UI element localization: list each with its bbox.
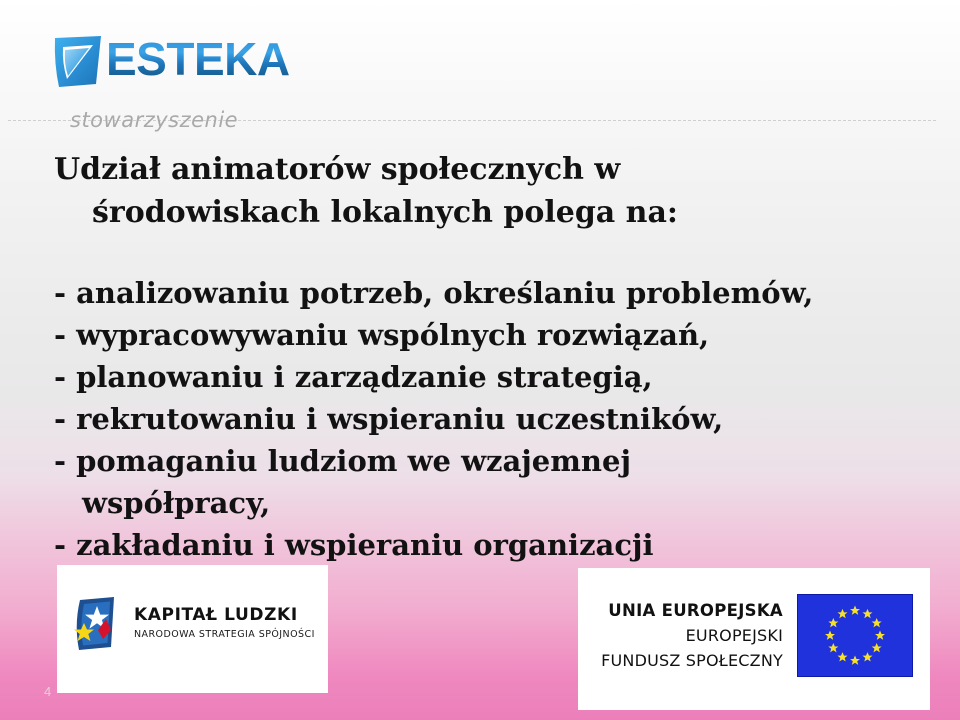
esteka-kite-icon — [52, 34, 104, 90]
page-title: Udział animatorów społecznych w środowis… — [54, 148, 914, 234]
eu-line-2: EUROPEJSKI — [595, 626, 783, 645]
slide-canvas: ESTEKA stowarzyszenie Udział animatorów … — [0, 0, 960, 720]
eu-line-1: UNIA EUROPEJSKA — [595, 601, 783, 620]
kapital-ludzki-panel: KAPITAŁ LUDZKI NARODOWA STRATEGIA SPÓJNO… — [57, 565, 328, 693]
list-item: - pomaganiu ludziom we wzajemnej — [54, 440, 934, 482]
list-item: - rekrutowaniu i wspieraniu uczestników, — [54, 398, 934, 440]
kapital-ludzki-subtitle: NARODOWA STRATEGIA SPÓJNOŚCI — [134, 630, 315, 640]
kapital-ludzki-flag-stars-icon — [70, 595, 122, 651]
title-line-2: środowiskach lokalnych polega na: — [54, 191, 914, 234]
slide-number: 4 — [44, 684, 51, 699]
brand-name: ESTEKA — [106, 36, 290, 82]
unia-europejska-logo: UNIA EUROPEJSKA EUROPEJSKI FUNDUSZ SPOŁE… — [595, 594, 913, 677]
eu-line-3: FUNDUSZ SPOŁECZNY — [595, 651, 783, 670]
unia-europejska-text: UNIA EUROPEJSKA EUROPEJSKI FUNDUSZ SPOŁE… — [595, 601, 797, 670]
brand-logo: ESTEKA — [52, 26, 290, 98]
eu-flag-twelve-stars-icon — [797, 594, 913, 677]
list-item: - wypracowywaniu wspólnych rozwiązań, — [54, 314, 934, 356]
list-item: - planowaniu i zarządzanie strategią, — [54, 356, 934, 398]
list-item: - zakładaniu i wspieraniu organizacji — [54, 524, 934, 566]
list-item: - analizowaniu potrzeb, określaniu probl… — [54, 272, 934, 314]
bullet-list: - analizowaniu potrzeb, określaniu probl… — [54, 272, 934, 566]
kapital-ludzki-title: KAPITAŁ LUDZKI — [134, 607, 315, 624]
kapital-ludzki-text: KAPITAŁ LUDZKI NARODOWA STRATEGIA SPÓJNO… — [134, 607, 315, 640]
list-item: współpracy, — [54, 482, 934, 524]
brand-subtitle: stowarzyszenie — [70, 108, 238, 132]
unia-europejska-panel: UNIA EUROPEJSKA EUROPEJSKI FUNDUSZ SPOŁE… — [578, 568, 930, 710]
kapital-ludzki-logo: KAPITAŁ LUDZKI NARODOWA STRATEGIA SPÓJNO… — [70, 595, 315, 651]
title-line-1: Udział animatorów społecznych w — [54, 152, 620, 187]
